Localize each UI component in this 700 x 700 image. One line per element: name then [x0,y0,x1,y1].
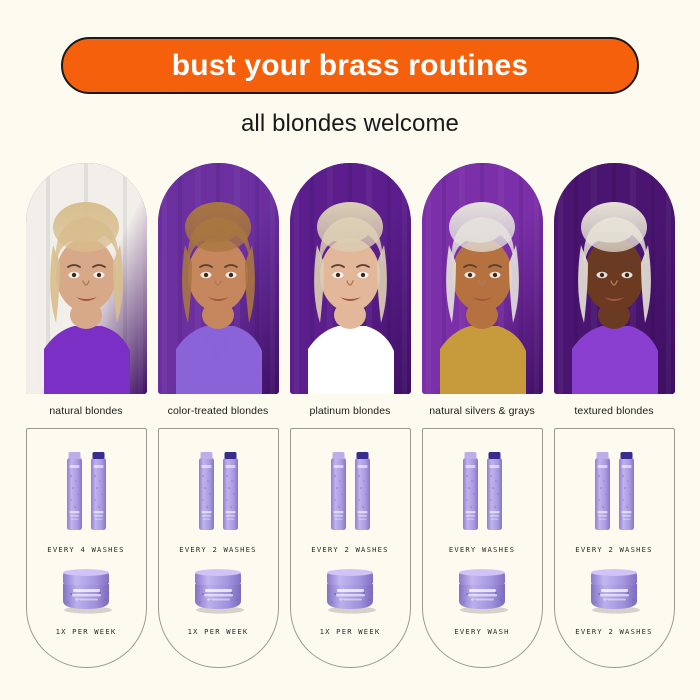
conditioner-bottle-icon [222,451,239,531]
banner-pill: bust your brass routines [61,37,639,94]
portrait-image-color-treated-blonde-curly-hair-woman [158,163,279,394]
treatment-frequency-label-3: EVERY WASH [454,627,509,636]
category-label-1: color-treated blondes [158,405,279,417]
photo-row [0,163,700,394]
routine-card-4[interactable]: EVERY 2 WASHES EVER [554,428,675,668]
routine-card-row: EVERY 4 WASHES 1X P [0,428,700,668]
shampoo-bottle-icon [462,451,479,531]
treatment-frequency-label-0: 1X PER WEEK [56,627,117,636]
routine-card-3[interactable]: EVERY WASHES EVERY [422,428,543,668]
shampoo-frequency-label-0: EVERY 4 WASHES [47,545,124,554]
page-title: bust your brass routines [172,51,529,81]
treatment-jar-icon [583,567,645,614]
portrait-image-platinum-blonde-woman-white-shirt [290,163,411,394]
treatment-frequency-label-2: 1X PER WEEK [320,627,381,636]
shampoo-frequency-label-3: EVERY WASHES [449,545,515,554]
photo-cell-3 [422,163,543,394]
shampoo-frequency-label-4: EVERY 2 WASHES [575,545,652,554]
shampoo-conditioner-pair [594,447,635,531]
photo-cell-0 [26,163,147,394]
shampoo-conditioner-pair [198,447,239,531]
photo-cell-1 [158,163,279,394]
category-label-4: textured blondes [554,405,675,417]
portrait-image-natural-blonde-woman-windblown-hair [26,163,147,394]
category-label-2: platinum blondes [290,405,411,417]
shampoo-frequency-label-2: EVERY 2 WASHES [311,545,388,554]
shampoo-bottle-icon [594,451,611,531]
header-banner-area: bust your brass routines [0,0,700,94]
shampoo-conditioner-pair [462,447,503,531]
category-label-0: natural blondes [26,405,147,417]
conditioner-bottle-icon [486,451,503,531]
conditioner-bottle-icon [354,451,371,531]
conditioner-bottle-icon [618,451,635,531]
photo-cell-2 [290,163,411,394]
treatment-frequency-label-4: EVERY 2 WASHES [575,627,652,636]
conditioner-bottle-icon [90,451,107,531]
shampoo-conditioner-pair [330,447,371,531]
portrait-image-textured-blonde-person-sunglasses-chain [554,163,675,394]
shampoo-bottle-icon [198,451,215,531]
treatment-jar-icon [319,567,381,614]
portrait-image-natural-silver-gray-hair-woman-laughing [422,163,543,394]
photo-cell-4 [554,163,675,394]
shampoo-frequency-label-1: EVERY 2 WASHES [179,545,256,554]
treatment-frequency-label-1: 1X PER WEEK [188,627,249,636]
treatment-jar-icon [451,567,513,614]
routine-card-0[interactable]: EVERY 4 WASHES 1X P [26,428,147,668]
routine-card-2[interactable]: EVERY 2 WASHES 1X P [290,428,411,668]
shampoo-bottle-icon [66,451,83,531]
page-subtitle: all blondes welcome [0,110,700,138]
routine-card-1[interactable]: EVERY 2 WASHES 1X P [158,428,279,668]
shampoo-bottle-icon [330,451,347,531]
treatment-jar-icon [187,567,249,614]
treatment-jar-icon [55,567,117,614]
category-label-3: natural silvers & grays [422,405,543,417]
category-label-row: natural blondescolor-treated blondesplat… [0,405,700,417]
shampoo-conditioner-pair [66,447,107,531]
